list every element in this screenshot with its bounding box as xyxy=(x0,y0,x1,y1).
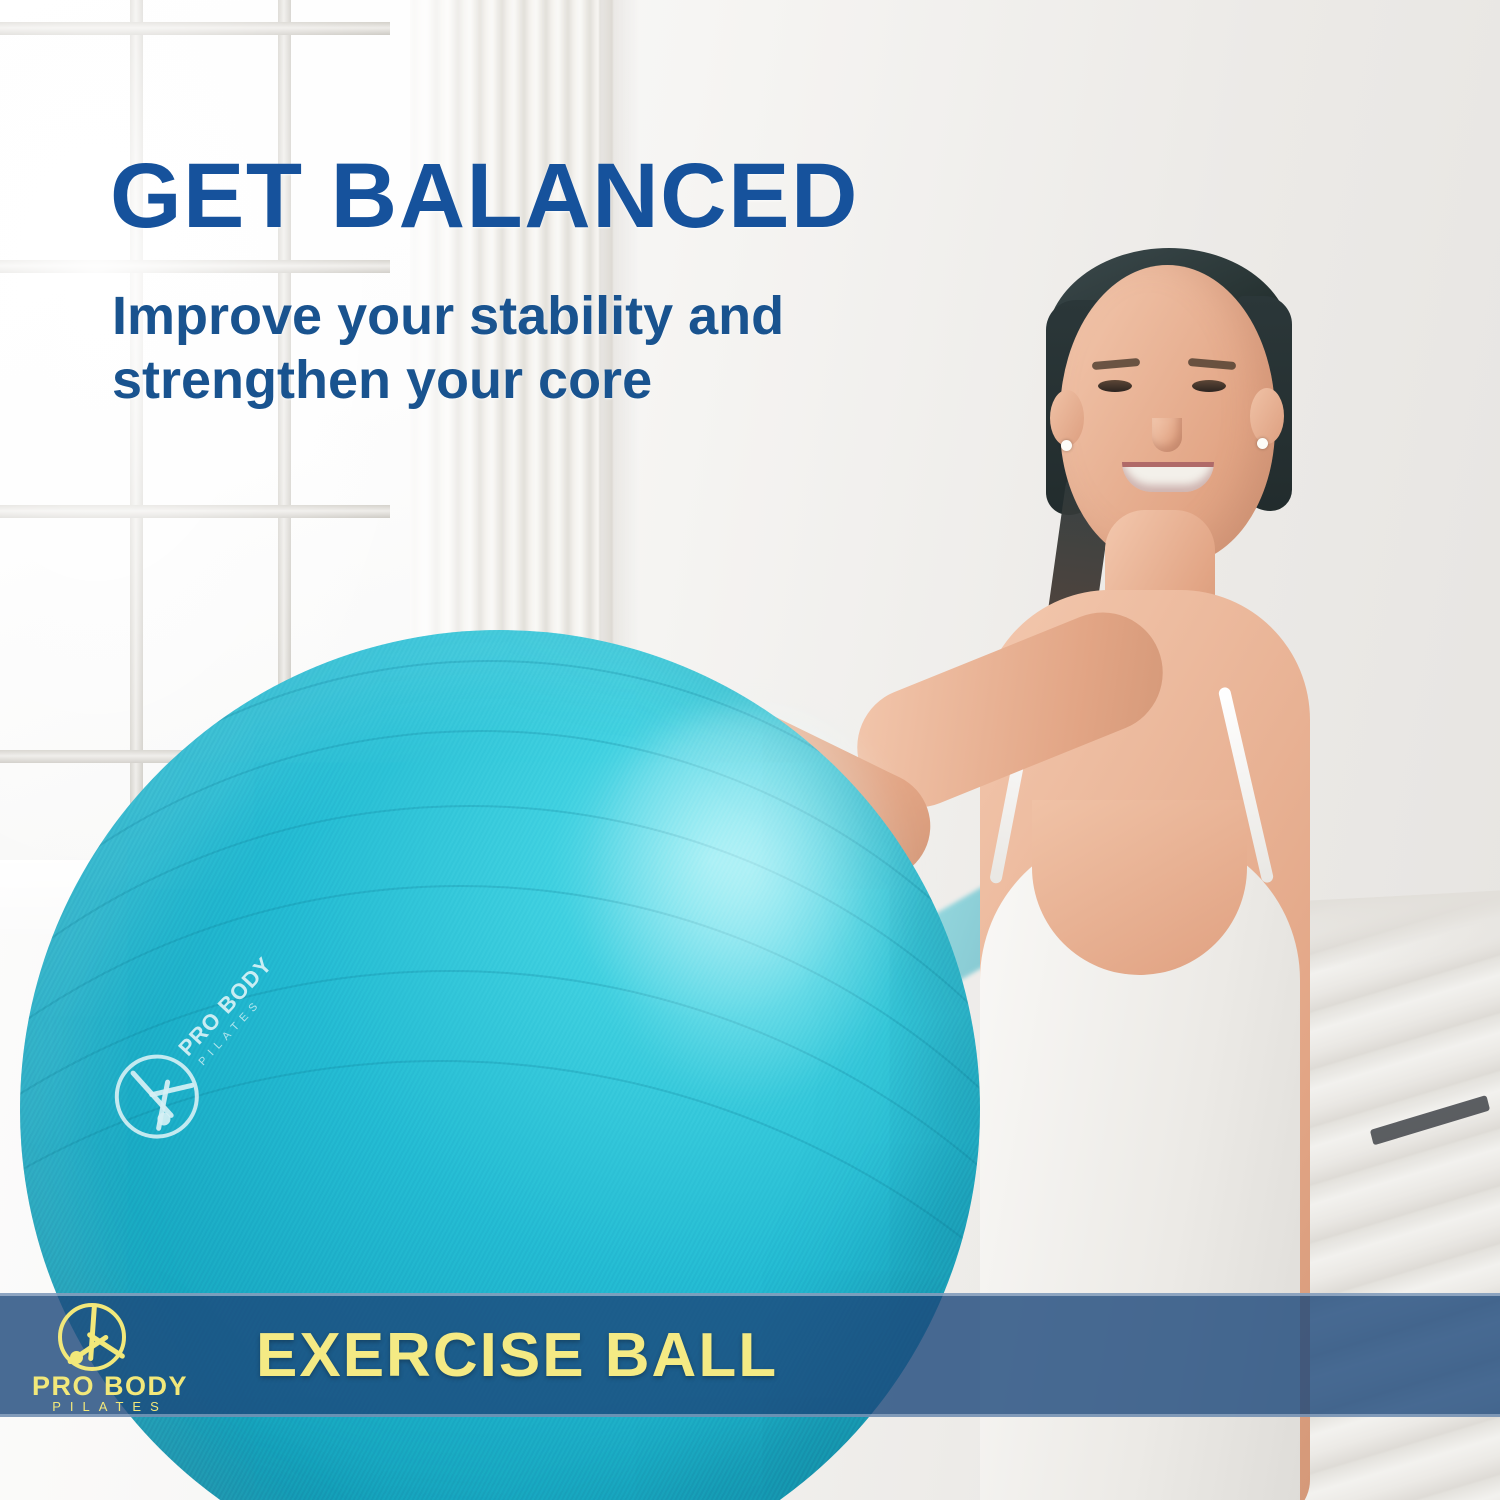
product-name: EXERCISE BALL xyxy=(256,1320,778,1391)
brand-sub: PILATES xyxy=(24,1399,196,1414)
window-mullion-horizontal xyxy=(0,22,390,35)
window-mullion-horizontal xyxy=(0,505,390,518)
page-title: GET BALANCED xyxy=(110,150,1060,242)
ball-highlight xyxy=(577,707,923,1110)
eye-left xyxy=(1098,380,1132,392)
brand-logo: PRO BODY PILATES xyxy=(0,1293,210,1417)
brand-name: PRO BODY xyxy=(24,1371,196,1402)
bottom-banner: PRO BODY PILATES EXERCISE BALL xyxy=(0,1293,1500,1417)
logo-figure-head-icon xyxy=(70,1351,83,1364)
ear-left xyxy=(1050,390,1084,446)
subtitle: Improve your stability and strengthen yo… xyxy=(112,285,942,412)
subtitle-line-2: strengthen your core xyxy=(112,349,942,413)
product-marketing-image: PRO BODY PILATES GET BALANCED Improve yo… xyxy=(0,0,1500,1500)
earring-left xyxy=(1061,440,1072,451)
earring-right xyxy=(1257,438,1268,449)
nose xyxy=(1152,418,1182,452)
eye-right xyxy=(1192,380,1226,392)
ear-right xyxy=(1250,388,1284,444)
window-mullion-horizontal xyxy=(0,260,390,273)
subtitle-line-1: Improve your stability and xyxy=(112,285,942,349)
